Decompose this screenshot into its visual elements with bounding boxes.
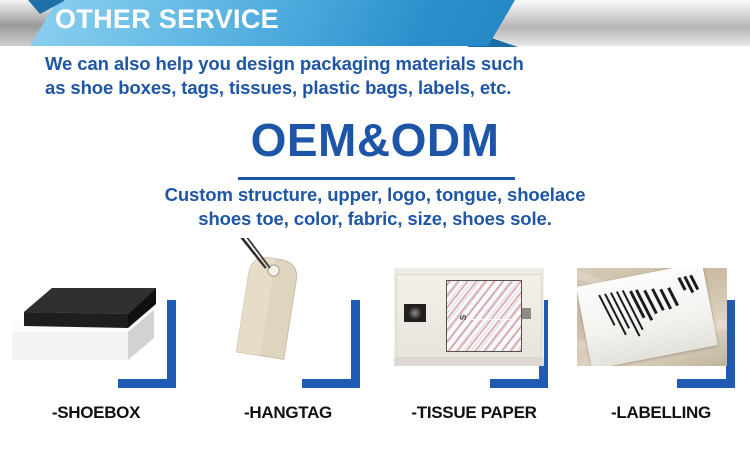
product-caption-hangtag: -HANGTAG — [208, 403, 368, 423]
banner-title: OTHER SERVICE — [55, 4, 279, 35]
bracket-horizontal-bar — [118, 379, 176, 388]
tissue-paper-sheet: S — [446, 280, 522, 352]
product-caption-shoebox: -SHOEBOX — [16, 403, 176, 423]
tissue-size-mark: S — [459, 315, 468, 320]
product-item-hangtag: -HANGTAG — [190, 248, 366, 398]
oem-subtext-line-2: shoes toe, color, fabric, size, shoes so… — [0, 207, 750, 231]
bracket-horizontal-bar — [490, 379, 548, 388]
product-item-shoebox: -SHOEBOX — [6, 248, 182, 398]
product-item-labelling: -LABELLING — [565, 248, 741, 398]
other-service-banner-page: OTHER SERVICE We can also help you desig… — [0, 0, 750, 456]
bracket-horizontal-bar — [677, 379, 735, 388]
oem-underline-rule — [238, 177, 515, 180]
labelling-image — [577, 268, 727, 366]
product-caption-tissue-paper: -TISSUE PAPER — [386, 403, 562, 423]
brand-logo-emblem-icon — [409, 307, 421, 319]
oem-subtext-line-1: Custom structure, upper, logo, tongue, s… — [0, 183, 750, 207]
hangtag-image — [200, 238, 350, 388]
bracket-vertical-bar — [726, 300, 735, 388]
tissue-box-base-shadow — [394, 358, 544, 366]
bracket-vertical-bar — [351, 300, 360, 388]
header-banner: OTHER SERVICE — [0, 0, 750, 46]
tissue-paper-image: S — [394, 268, 544, 366]
product-item-tissue-paper: S -TISSUE PAPER — [378, 248, 554, 398]
intro-paragraph: We can also help you design packaging ma… — [45, 52, 605, 99]
intro-line-1: We can also help you design packaging ma… — [45, 52, 605, 76]
intro-line-2: as shoe boxes, tags, tissues, plastic ba… — [45, 76, 605, 100]
product-caption-labelling: -LABELLING — [573, 403, 749, 423]
brand-logo-square — [404, 304, 426, 322]
shoebox-image — [10, 276, 156, 362]
tissue-box-tab — [522, 308, 531, 319]
tissue-crease-line — [469, 319, 511, 320]
care-label-tag — [577, 268, 718, 366]
oem-odm-heading: OEM&ODM — [0, 117, 750, 163]
bracket-vertical-bar — [167, 300, 176, 388]
oem-subtext: Custom structure, upper, logo, tongue, s… — [0, 183, 750, 231]
